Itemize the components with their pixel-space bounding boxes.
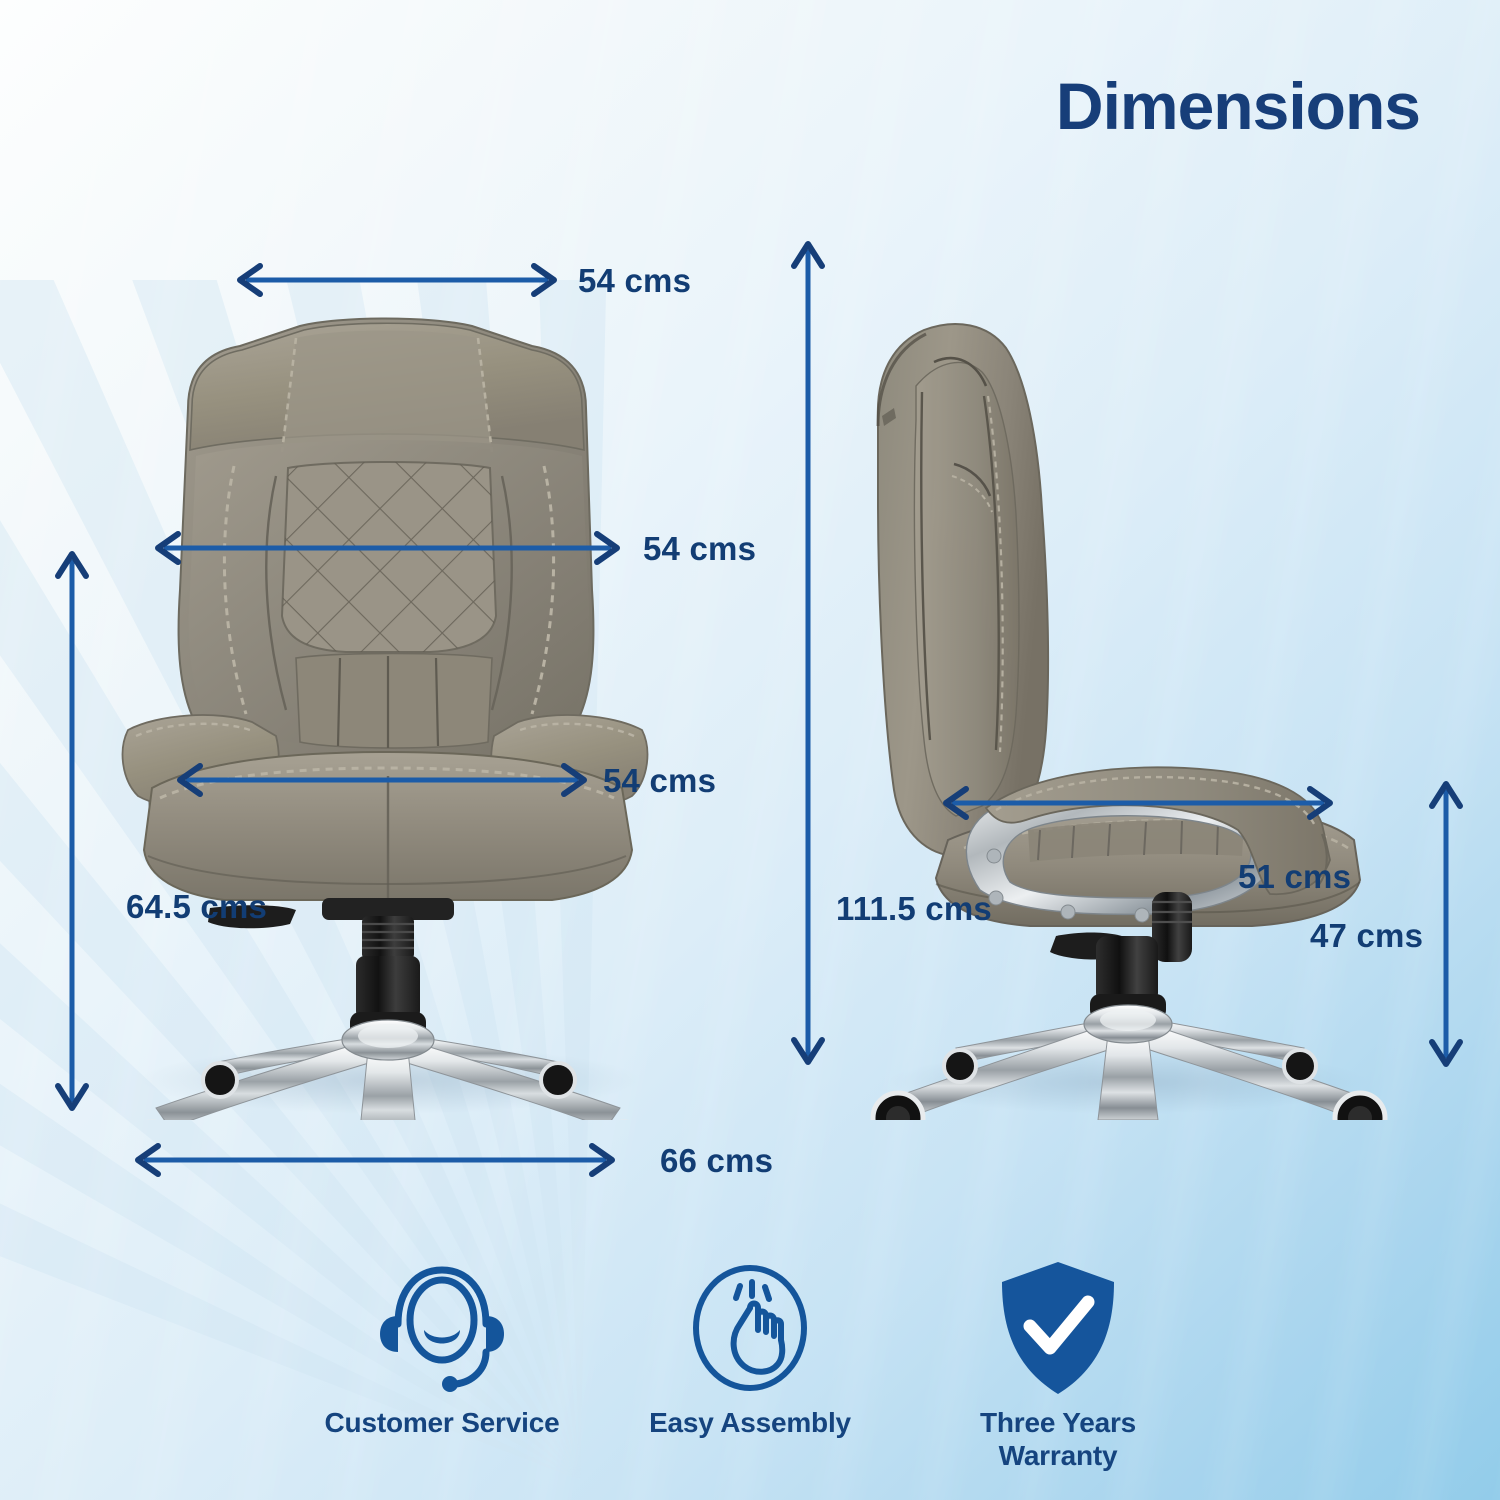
feature-label: Three Years Warranty xyxy=(928,1406,1188,1472)
arrow-base-width xyxy=(130,1142,620,1178)
shield-check-icon xyxy=(996,1260,1120,1396)
feature-easy-assembly: Easy Assembly xyxy=(620,1260,880,1439)
label-seat-width: 54 cms xyxy=(603,762,716,800)
label-seat-depth: 51 cms xyxy=(1238,858,1351,896)
hand-tap-icon xyxy=(688,1260,812,1396)
headset-icon xyxy=(376,1260,508,1396)
arrow-seat-height xyxy=(54,548,90,1114)
office-chair-side-view xyxy=(860,300,1390,1120)
feature-warranty: Three Years Warranty xyxy=(928,1260,1188,1472)
arrow-seat-width xyxy=(172,762,592,798)
feature-label: Easy Assembly xyxy=(649,1406,851,1439)
dimensions-infographic: Dimensions xyxy=(0,0,1500,1500)
arrow-overall-height xyxy=(790,238,826,1068)
arrow-seat-to-floor xyxy=(1428,778,1464,1070)
arrow-seat-back-width xyxy=(150,530,625,566)
arrow-backrest-width xyxy=(232,262,562,298)
feature-label: Customer Service xyxy=(325,1406,560,1439)
label-overall-height: 111.5 cms xyxy=(836,890,992,928)
label-seat-to-floor: 47 cms xyxy=(1310,917,1423,955)
label-seat-back-width: 54 cms xyxy=(643,530,756,568)
feature-customer-service: Customer Service xyxy=(312,1260,572,1439)
label-backrest-width: 54 cms xyxy=(578,262,691,300)
arrow-seat-depth xyxy=(938,785,1338,821)
office-chair-front-view xyxy=(100,290,670,1120)
label-seat-height: 64.5 cms xyxy=(126,888,267,926)
page-title: Dimensions xyxy=(1056,68,1420,144)
label-base-width: 66 cms xyxy=(660,1142,773,1180)
feature-badges: Customer Service xyxy=(0,1260,1500,1472)
